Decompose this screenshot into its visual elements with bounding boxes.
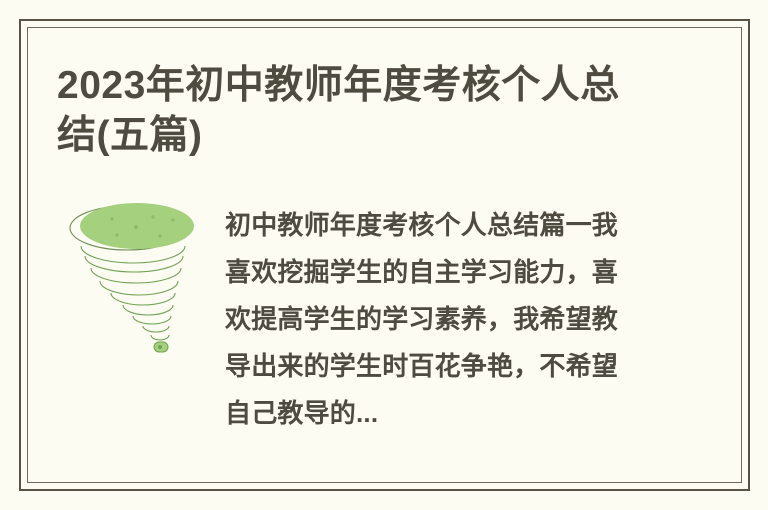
article-card: 2023年初中教师年度考核个人总结(五篇) [0,0,768,510]
article-content-row: 初中教师年度考核个人总结篇一我喜欢挖掘学生的自主学习能力，喜欢提高学生的学习素养… [57,196,657,437]
article-excerpt: 初中教师年度考核个人总结篇一我喜欢挖掘学生的自主学习能力，喜欢提高学生的学习素养… [225,196,643,437]
page-title: 2023年初中教师年度考核个人总结(五篇) [57,61,657,161]
article-thumbnail [57,196,207,366]
green-tornado-icon [57,196,207,366]
